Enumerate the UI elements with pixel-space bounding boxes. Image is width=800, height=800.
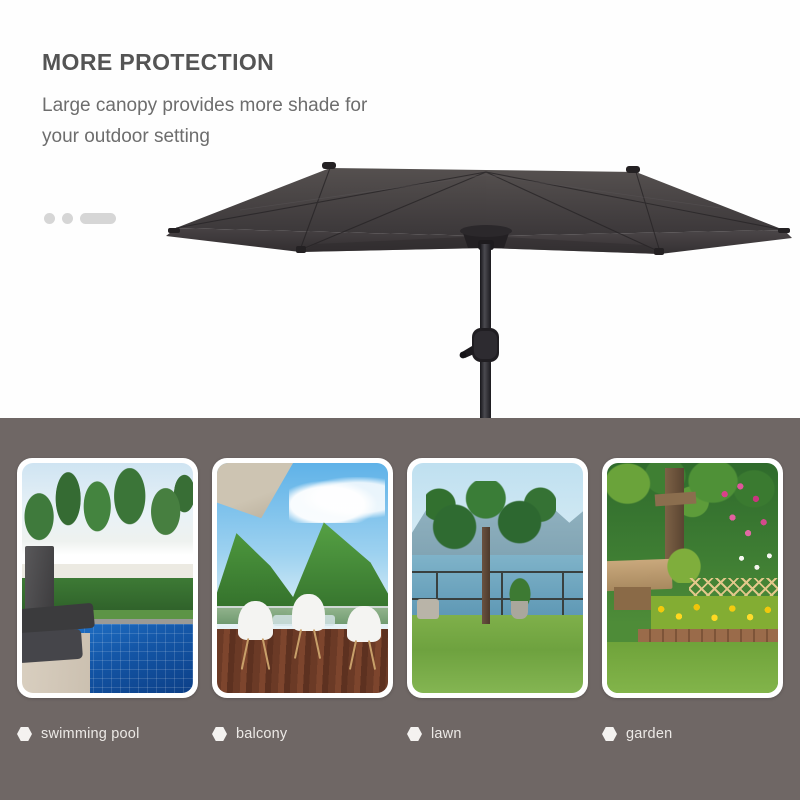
balcony-image [217, 463, 388, 693]
hexagon-bullet-icon [407, 727, 422, 742]
caption-garden: garden [602, 714, 783, 754]
palm-fronds [426, 481, 556, 559]
scene-caption-row: swimming pool balcony lawn garden [0, 714, 800, 754]
hexagon-bullet-icon [212, 727, 227, 742]
garden-image [607, 463, 778, 693]
swimming-pool-image [22, 463, 193, 693]
hero-section: MORE PROTECTION Large canopy provides mo… [0, 0, 800, 418]
caption-label: lawn [431, 726, 462, 742]
chair-1 [238, 601, 274, 640]
product-feature-page: MORE PROTECTION Large canopy provides mo… [0, 0, 800, 800]
scene-thumbnail-balcony[interactable] [212, 458, 393, 698]
scene-thumbnail-row [0, 458, 800, 698]
double-sided-patio-umbrella-icon [0, 0, 800, 418]
caption-balcony: balcony [212, 714, 393, 754]
hexagon-bullet-icon [602, 727, 617, 742]
scene-thumbnail-garden[interactable] [602, 458, 783, 698]
planter-pot [511, 601, 528, 619]
pink-flowers [713, 477, 778, 555]
bench-support [614, 587, 652, 610]
clouds [289, 477, 385, 523]
wooden-bench [607, 558, 672, 590]
scene-thumbnail-swimming-pool[interactable] [17, 458, 198, 698]
pool-tiles [75, 624, 193, 693]
caption-label: balcony [236, 726, 287, 742]
lawn-image [412, 463, 583, 693]
caption-lawn: lawn [407, 714, 588, 754]
stone-statue [417, 599, 439, 620]
caption-label: swimming pool [41, 726, 140, 742]
sun-lounger-2 [22, 629, 83, 663]
scene-thumbnail-lawn[interactable] [407, 458, 588, 698]
railing-post-2 [501, 571, 503, 617]
lawn-grass [412, 615, 583, 693]
caption-swimming-pool: swimming pool [17, 714, 198, 754]
yellow-marigold-bed [651, 596, 778, 628]
caption-label: garden [626, 726, 672, 742]
garden-lawn [607, 642, 778, 693]
pool-water [75, 624, 193, 693]
chair-3 [347, 606, 381, 643]
hexagon-bullet-icon [17, 727, 32, 742]
railing-post-3 [562, 571, 564, 617]
chair-2 [292, 594, 324, 631]
